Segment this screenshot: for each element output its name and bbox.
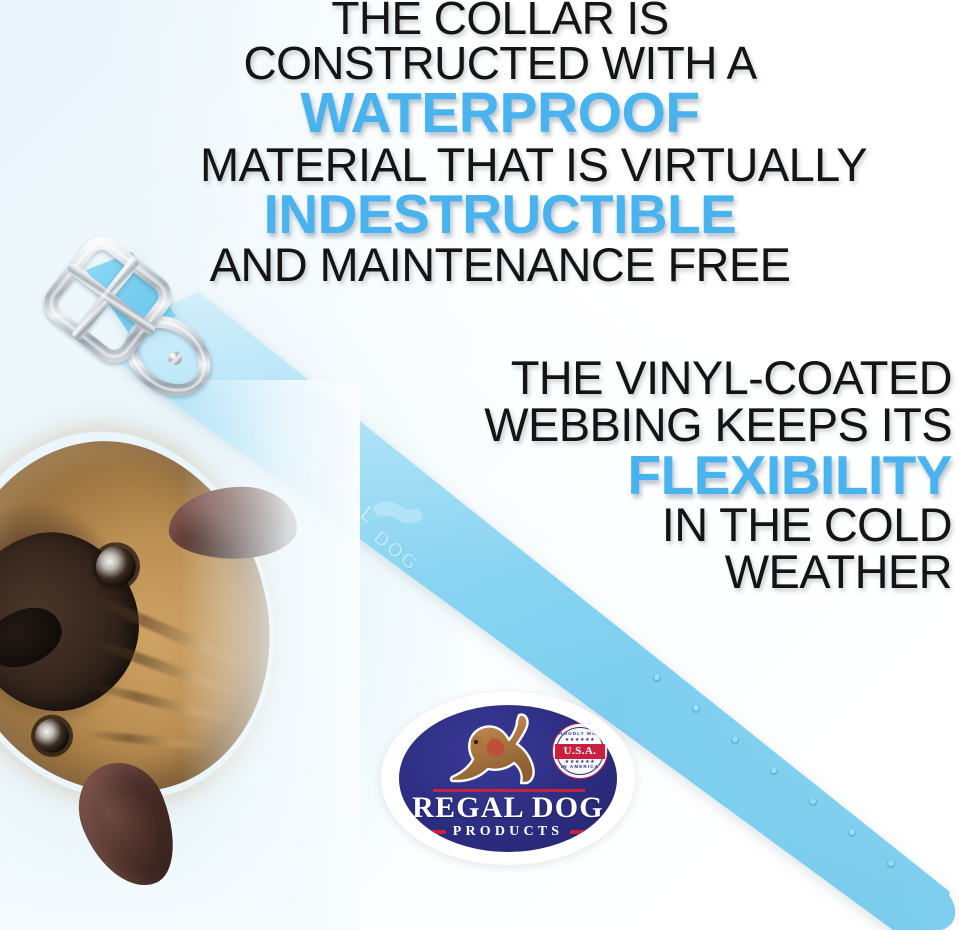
usa-badge-arc-top: PROUDLY MADE — [553, 732, 607, 737]
made-in-usa-badge: PROUDLY MADE ★★★★★★ U.S.A. ★★★★★★ IN AME… — [552, 723, 608, 779]
logo-brand-name: REGAL DOG — [399, 793, 617, 823]
headline-top-line-5-highlight: INDESTRUCTIBLE — [200, 188, 800, 242]
headline-top: THE COLLAR IS CONSTRUCTED WITH A WATERPR… — [200, 0, 800, 288]
logo-subtitle: PRODUCTS — [453, 825, 564, 839]
headline-top-line-3-highlight: WATERPROOF — [200, 86, 800, 142]
logo-dash-left — [420, 830, 446, 834]
headline-top-line-6: AND MAINTENANCE FREE — [200, 242, 800, 288]
headline-right-line-5: WEATHER — [452, 549, 952, 596]
logo-subtitle-row: PRODUCTS — [399, 825, 617, 839]
product-marketing-image: REGAL DOG — [0, 0, 959, 930]
headline-top-line-1: THE COLLAR IS — [200, 0, 800, 41]
headline-right-line-4: IN THE COLD — [452, 502, 952, 549]
headline-top-line-2: CONSTRUCTED WITH A — [200, 41, 800, 86]
headline-right-line-2: WEBBING KEEPS ITS — [452, 402, 952, 449]
usa-badge-center-bar: U.S.A. — [555, 744, 605, 759]
headline-right-line-3-highlight: FLEXIBILITY — [452, 448, 952, 502]
usa-badge-stars-top: ★★★★★★ — [553, 738, 607, 743]
headline-right: THE VINYL-COATED WEBBING KEEPS ITS FLEXI… — [452, 355, 952, 596]
logo-dog-icon — [447, 713, 559, 799]
usa-badge-center-text: U.S.A. — [564, 746, 597, 757]
headline-right-line-1: THE VINYL-COATED — [452, 355, 952, 402]
usa-badge-arc-bottom: IN AMERICA — [553, 765, 607, 770]
logo-oval: REGAL DOG PRODUCTS PROUDLY MADE ★★★★★★ U… — [399, 705, 617, 852]
brand-logo-badge: REGAL DOG PRODUCTS PROUDLY MADE ★★★★★★ U… — [381, 692, 635, 865]
headline-top-line-4: MATERIAL THAT IS VIRTUALLY — [200, 142, 800, 188]
logo-dash-right — [570, 830, 596, 834]
